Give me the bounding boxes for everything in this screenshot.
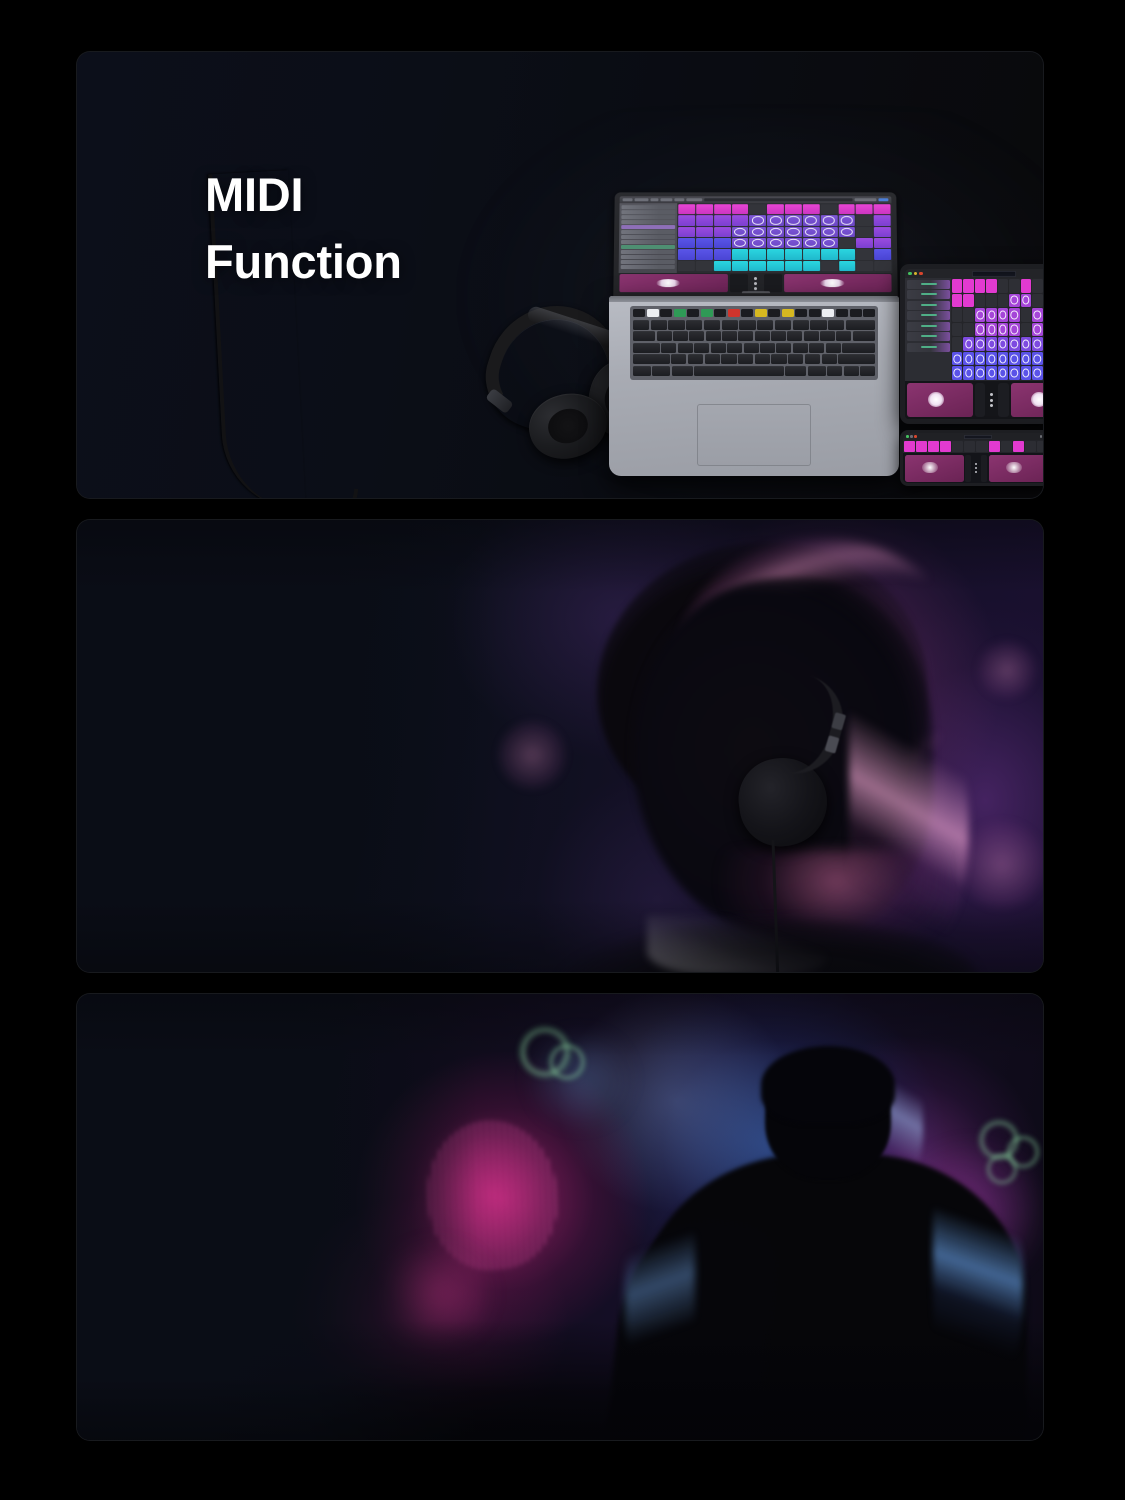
ipad-clip-cell bbox=[963, 279, 973, 293]
ipad-clip-cell bbox=[952, 308, 962, 322]
keyboard-key bbox=[651, 320, 667, 330]
keyboard-row bbox=[633, 331, 875, 341]
keyboard-key bbox=[853, 331, 875, 341]
daw-clip-cell bbox=[821, 261, 838, 271]
daw-clip-cell bbox=[838, 227, 855, 237]
ipad-clip-cell bbox=[1009, 323, 1019, 337]
daw-clip-cell bbox=[803, 204, 820, 214]
touch-bar-segment bbox=[836, 309, 848, 317]
iphone-pad-controls bbox=[903, 453, 1043, 483]
touch-bar-segment bbox=[863, 309, 875, 317]
daw-clip-cell bbox=[856, 204, 873, 214]
daw-clip-cell bbox=[803, 227, 820, 237]
ipad-clip-cell bbox=[1009, 279, 1019, 293]
ipad-clip-cell bbox=[998, 366, 1008, 380]
speaker-jack-panel: 6.5mm Speaker Jack for Louder Sound bbox=[77, 994, 1043, 1440]
keyboard-key bbox=[652, 366, 670, 376]
macbook-pro-image bbox=[609, 192, 899, 482]
keyboard-key bbox=[678, 343, 693, 353]
daw-clip-cell bbox=[839, 249, 856, 259]
daw-clip-cell bbox=[874, 238, 891, 248]
daw-clip-cell bbox=[714, 249, 731, 259]
ipad-clip-cell bbox=[1021, 366, 1031, 380]
ipad-image bbox=[900, 264, 1043, 424]
ipad-clip-cell bbox=[952, 337, 962, 351]
daw-clip-cell bbox=[767, 238, 784, 248]
keyboard-key bbox=[804, 331, 819, 341]
midi-function-headline: MIDI Function bbox=[205, 162, 402, 295]
midi-function-panel: MIDI Function bbox=[77, 52, 1043, 498]
keyboard-key bbox=[633, 320, 649, 330]
daw-pad-controls bbox=[618, 273, 892, 293]
iphone-clip-cell bbox=[964, 441, 975, 452]
macbook-base bbox=[609, 296, 899, 476]
iphone-clip-cell bbox=[1037, 441, 1043, 452]
daw-clip-cell bbox=[874, 215, 891, 225]
keyboard-key bbox=[757, 320, 773, 330]
daw-clip-cell bbox=[820, 215, 837, 225]
daw-clip-cell bbox=[838, 204, 855, 214]
ipad-clip-cell bbox=[952, 323, 962, 337]
keyboard-key bbox=[846, 320, 875, 330]
keyboard-key bbox=[820, 331, 835, 341]
iphone-clip-cell bbox=[916, 441, 927, 452]
daw-clip-cell bbox=[714, 204, 731, 214]
ipad-pad-right bbox=[1011, 383, 1044, 417]
daw-clip-cell bbox=[785, 215, 802, 225]
touch-bar-segment bbox=[850, 309, 862, 317]
ipad-clip-cell bbox=[1021, 337, 1031, 351]
ipad-clip-cell bbox=[986, 294, 996, 308]
ipad-display-readout bbox=[972, 271, 1016, 277]
touch-bar-segment bbox=[647, 309, 659, 317]
daw-clip-cell bbox=[696, 261, 713, 271]
keyboard-row bbox=[633, 354, 875, 364]
touch-bar-segment bbox=[768, 309, 780, 317]
photo-edge-vignette bbox=[77, 994, 1043, 1440]
ipad-clip-cell bbox=[952, 294, 962, 308]
keyboard-key bbox=[842, 343, 875, 353]
daw-clip-cell bbox=[803, 238, 820, 248]
ipad-clip-cell bbox=[1009, 352, 1019, 366]
ipad-clip-cell bbox=[986, 337, 996, 351]
keyboard-key bbox=[738, 354, 753, 364]
ipad-clip-cell bbox=[975, 308, 985, 322]
ipad-clip-cell bbox=[1021, 352, 1031, 366]
keyboard-row bbox=[633, 320, 875, 330]
macbook-lid bbox=[613, 192, 898, 298]
keyboard-key bbox=[694, 343, 709, 353]
daw-clip-cell bbox=[785, 227, 802, 237]
keyboard-row bbox=[633, 343, 875, 353]
keyboard-key bbox=[808, 366, 826, 376]
daw-clip-cell bbox=[785, 249, 802, 259]
keyboard-key bbox=[722, 320, 738, 330]
stage-lifestyle-photo bbox=[77, 994, 1043, 1440]
keyboard-key bbox=[686, 320, 702, 330]
keyboard-key bbox=[744, 343, 759, 353]
keyboard-key bbox=[688, 354, 703, 364]
daw-clip-cell bbox=[874, 204, 891, 214]
keyboard-key bbox=[809, 343, 824, 353]
ipad-clip-cell bbox=[952, 352, 962, 366]
headphone-jack-panel: 3.5mm Headphone Jack for Silent Practice bbox=[77, 520, 1043, 972]
daw-clip-cell bbox=[732, 227, 749, 237]
daw-clip-cell bbox=[678, 215, 695, 225]
ipad-clip-cell bbox=[986, 366, 996, 380]
ipad-clip-cell bbox=[963, 323, 973, 337]
daw-clip-cell bbox=[839, 261, 856, 271]
iphone-pad-right bbox=[989, 455, 1044, 482]
keyboard-key bbox=[633, 343, 660, 353]
ipad-clip-cell bbox=[998, 323, 1008, 337]
keyboard-key bbox=[822, 354, 837, 364]
keyboard-key bbox=[711, 343, 726, 353]
keyboard-key bbox=[827, 366, 842, 376]
ipad-app-toolbar bbox=[905, 269, 1043, 278]
daw-clip-cell bbox=[678, 249, 695, 259]
daw-pad-right bbox=[784, 274, 892, 292]
ipad-clip-cell bbox=[986, 308, 996, 322]
daw-clip-cell bbox=[803, 249, 820, 259]
iphone-clip-cell bbox=[928, 441, 939, 452]
touch-bar-segment bbox=[741, 309, 753, 317]
touch-bar-segment bbox=[782, 309, 794, 317]
daw-clip-cell bbox=[714, 261, 731, 271]
iphone-clip-cell bbox=[940, 441, 951, 452]
keyboard-key bbox=[844, 366, 859, 376]
daw-clip-cell bbox=[696, 249, 713, 259]
ipad-clip-grid bbox=[951, 278, 1043, 381]
daw-clip-cell bbox=[856, 215, 873, 225]
keyboard-key bbox=[672, 366, 693, 376]
ipad-clip-cell bbox=[975, 323, 985, 337]
daw-clip-cell bbox=[678, 261, 695, 271]
keyboard-key bbox=[860, 366, 875, 376]
iphone-clip-cell bbox=[904, 441, 915, 452]
ipad-clip-cell bbox=[975, 279, 985, 293]
daw-clip-cell bbox=[874, 261, 891, 271]
keyboard-key bbox=[633, 331, 655, 341]
keyboard-key bbox=[673, 331, 688, 341]
daw-clip-cell bbox=[696, 204, 713, 214]
macbook-touch-bar bbox=[633, 309, 875, 317]
ipad-clip-cell bbox=[986, 279, 996, 293]
iphone-pad-left bbox=[905, 455, 964, 482]
keyboard-key bbox=[689, 331, 704, 341]
iphone-display-readout bbox=[964, 435, 992, 439]
keyboard-key bbox=[776, 343, 791, 353]
daw-clip-cell bbox=[732, 215, 749, 225]
feature-panels-page: MIDI Function 3.5mm Headphone Jack for S… bbox=[0, 0, 1125, 1500]
keyboard-key bbox=[706, 331, 721, 341]
iphone-transport bbox=[965, 455, 987, 482]
daw-clip-cell bbox=[767, 261, 784, 271]
ipad-clip-cell bbox=[998, 352, 1008, 366]
daw-clip-cell bbox=[767, 227, 784, 237]
iphone-clip-cell bbox=[989, 441, 1000, 452]
daw-clip-cell bbox=[803, 215, 820, 225]
touch-bar-segment bbox=[755, 309, 767, 317]
daw-clip-cell bbox=[731, 261, 748, 271]
ipad-pad-left bbox=[907, 383, 973, 417]
ipad-pad-controls bbox=[905, 381, 1043, 419]
daw-clip-cell bbox=[678, 238, 695, 248]
daw-track-list bbox=[619, 203, 678, 273]
keyboard-key bbox=[704, 320, 720, 330]
daw-clip-cell bbox=[678, 204, 695, 214]
daw-clip-cell bbox=[696, 238, 713, 248]
macbook-trackpad bbox=[697, 404, 811, 466]
daw-clip-cell bbox=[785, 238, 802, 248]
daw-workspace bbox=[619, 203, 893, 273]
keyboard-key bbox=[633, 366, 651, 376]
daw-clip-cell bbox=[749, 249, 766, 259]
keyboard-key bbox=[771, 331, 786, 341]
ipad-clip-cell bbox=[1032, 294, 1042, 308]
ipad-clip-cell bbox=[963, 294, 973, 308]
ipad-clip-cell bbox=[1009, 294, 1019, 308]
keyboard-key bbox=[738, 331, 753, 341]
touch-bar-segment bbox=[822, 309, 834, 317]
ipad-clip-cell bbox=[1032, 366, 1042, 380]
daw-clip-cell bbox=[803, 261, 820, 271]
iphone-app-toolbar bbox=[903, 433, 1043, 440]
ipad-clip-cell bbox=[998, 294, 1008, 308]
ipad-screen bbox=[905, 269, 1043, 419]
keyboard-key bbox=[805, 354, 820, 364]
keyboard-row bbox=[633, 366, 875, 376]
daw-clip-cell bbox=[785, 204, 802, 214]
touch-bar-segment bbox=[687, 309, 699, 317]
touch-bar-segment bbox=[701, 309, 713, 317]
daw-clip-cell bbox=[749, 261, 766, 271]
touch-bar-segment bbox=[809, 309, 821, 317]
daw-clip-cell bbox=[856, 238, 873, 248]
keyboard-key bbox=[793, 343, 808, 353]
keyboard-key bbox=[694, 366, 784, 376]
ipad-clip-cell bbox=[1032, 323, 1042, 337]
keyboard-key bbox=[785, 366, 806, 376]
iphone-screen bbox=[903, 433, 1043, 483]
ipad-clip-cell bbox=[1032, 352, 1042, 366]
keyboard-key bbox=[760, 343, 775, 353]
daw-clip-cell bbox=[821, 249, 838, 259]
ipad-clip-cell bbox=[1032, 279, 1042, 293]
keyboard-key bbox=[826, 343, 841, 353]
ipad-clip-cell bbox=[1032, 337, 1042, 351]
transport-dots bbox=[749, 274, 761, 292]
ipad-clip-cell bbox=[986, 323, 996, 337]
ipad-clip-cell bbox=[975, 337, 985, 351]
daw-clip-cell bbox=[714, 215, 731, 225]
daw-clip-cell bbox=[785, 261, 802, 271]
daw-clip-cell bbox=[838, 238, 855, 248]
ipad-clip-cell bbox=[1021, 308, 1031, 322]
iphone-clip-cell bbox=[1001, 441, 1012, 452]
macbook-keyboard bbox=[630, 306, 878, 380]
ipad-clip-cell bbox=[975, 352, 985, 366]
daw-clip-cell bbox=[767, 249, 784, 259]
daw-clip-cell bbox=[821, 227, 838, 237]
daw-clip-cell bbox=[856, 227, 873, 237]
daw-clip-cell bbox=[732, 204, 749, 214]
keyboard-key bbox=[810, 320, 826, 330]
ipad-clip-cell bbox=[1009, 308, 1019, 322]
daw-clip-cell bbox=[749, 227, 766, 237]
keyboard-key bbox=[668, 320, 684, 330]
touch-bar-segment bbox=[714, 309, 726, 317]
keyboard-key bbox=[705, 354, 720, 364]
ipad-clip-cell bbox=[963, 366, 973, 380]
keyboard-key bbox=[755, 354, 770, 364]
ipad-clip-cell bbox=[963, 308, 973, 322]
daw-clip-cell bbox=[874, 227, 891, 237]
photo-edge-vignette bbox=[77, 520, 1043, 972]
keyboard-key bbox=[793, 320, 809, 330]
ipad-clip-cell bbox=[986, 352, 996, 366]
keyboard-key bbox=[727, 343, 742, 353]
ipad-app-body bbox=[905, 278, 1043, 381]
iphone-clip-cell bbox=[952, 441, 963, 452]
daw-clip-cell bbox=[749, 204, 766, 214]
macbook-hinge bbox=[609, 296, 899, 302]
ipad-transport bbox=[975, 383, 1009, 417]
iphone-clip-grid bbox=[903, 440, 1043, 453]
daw-clip-cell bbox=[696, 227, 713, 237]
daw-clip-cell bbox=[749, 238, 766, 248]
daw-clip-cell bbox=[767, 204, 784, 214]
keyboard-key bbox=[657, 331, 672, 341]
touch-bar-segment bbox=[660, 309, 672, 317]
keyboard-key bbox=[787, 331, 802, 341]
ipad-clip-cell bbox=[998, 337, 1008, 351]
keyboard-key bbox=[788, 354, 803, 364]
daw-clip-cell bbox=[856, 261, 873, 271]
keyboard-key bbox=[828, 320, 844, 330]
keyboard-key bbox=[671, 354, 686, 364]
ipad-clip-cell bbox=[1021, 294, 1031, 308]
iphone-image bbox=[900, 430, 1043, 486]
keyboard-key bbox=[633, 354, 670, 364]
ipad-clip-cell bbox=[1009, 366, 1019, 380]
daw-pad-left bbox=[619, 274, 727, 292]
ipad-clip-cell bbox=[952, 279, 962, 293]
keyboard-key bbox=[836, 331, 851, 341]
ipad-mixer-strip bbox=[905, 278, 951, 381]
daw-clip-cell bbox=[731, 249, 748, 259]
touch-bar-segment bbox=[728, 309, 740, 317]
headphone-lifestyle-photo bbox=[77, 520, 1043, 972]
iphone-clip-cell bbox=[1025, 441, 1036, 452]
ipad-clip-cell bbox=[975, 366, 985, 380]
ipad-clip-cell bbox=[1009, 337, 1019, 351]
daw-transport bbox=[729, 274, 781, 292]
keyboard-key bbox=[775, 320, 791, 330]
daw-clip-cell bbox=[678, 227, 695, 237]
touch-bar-segment bbox=[633, 309, 645, 317]
ipad-clip-cell bbox=[952, 366, 962, 380]
daw-clip-cell bbox=[856, 249, 873, 259]
daw-clip-cell bbox=[821, 238, 838, 248]
ipad-clip-cell bbox=[1021, 323, 1031, 337]
macbook-chin-logo bbox=[741, 291, 769, 293]
keyboard-key bbox=[722, 331, 737, 341]
ipad-clip-cell bbox=[998, 308, 1008, 322]
keyboard-key bbox=[661, 343, 676, 353]
keyboard-key bbox=[755, 331, 770, 341]
keyboard-key bbox=[721, 354, 736, 364]
keyboard-key bbox=[739, 320, 755, 330]
daw-clip-cell bbox=[767, 215, 784, 225]
macbook-screen bbox=[618, 196, 892, 293]
ipad-clip-cell bbox=[998, 279, 1008, 293]
daw-clip-cell bbox=[714, 238, 731, 248]
daw-menubar bbox=[620, 196, 892, 203]
ipad-clip-cell bbox=[975, 294, 985, 308]
daw-clip-cell bbox=[820, 204, 837, 214]
ipad-clip-cell bbox=[1032, 308, 1042, 322]
daw-clip-cell bbox=[838, 215, 855, 225]
ipad-clip-cell bbox=[1021, 279, 1031, 293]
iphone-clip-cell bbox=[976, 441, 987, 452]
ipad-clip-cell bbox=[963, 337, 973, 351]
daw-clip-grid bbox=[677, 203, 893, 273]
keyboard-key bbox=[838, 354, 875, 364]
daw-clip-cell bbox=[696, 215, 713, 225]
daw-clip-cell bbox=[874, 249, 891, 259]
daw-clip-cell bbox=[731, 238, 748, 248]
keyboard-key bbox=[771, 354, 786, 364]
iphone-clip-cell bbox=[1013, 441, 1024, 452]
daw-clip-cell bbox=[714, 227, 731, 237]
ipad-clip-cell bbox=[963, 352, 973, 366]
daw-clip-cell bbox=[749, 215, 766, 225]
touch-bar-segment bbox=[795, 309, 807, 317]
touch-bar-segment bbox=[674, 309, 686, 317]
